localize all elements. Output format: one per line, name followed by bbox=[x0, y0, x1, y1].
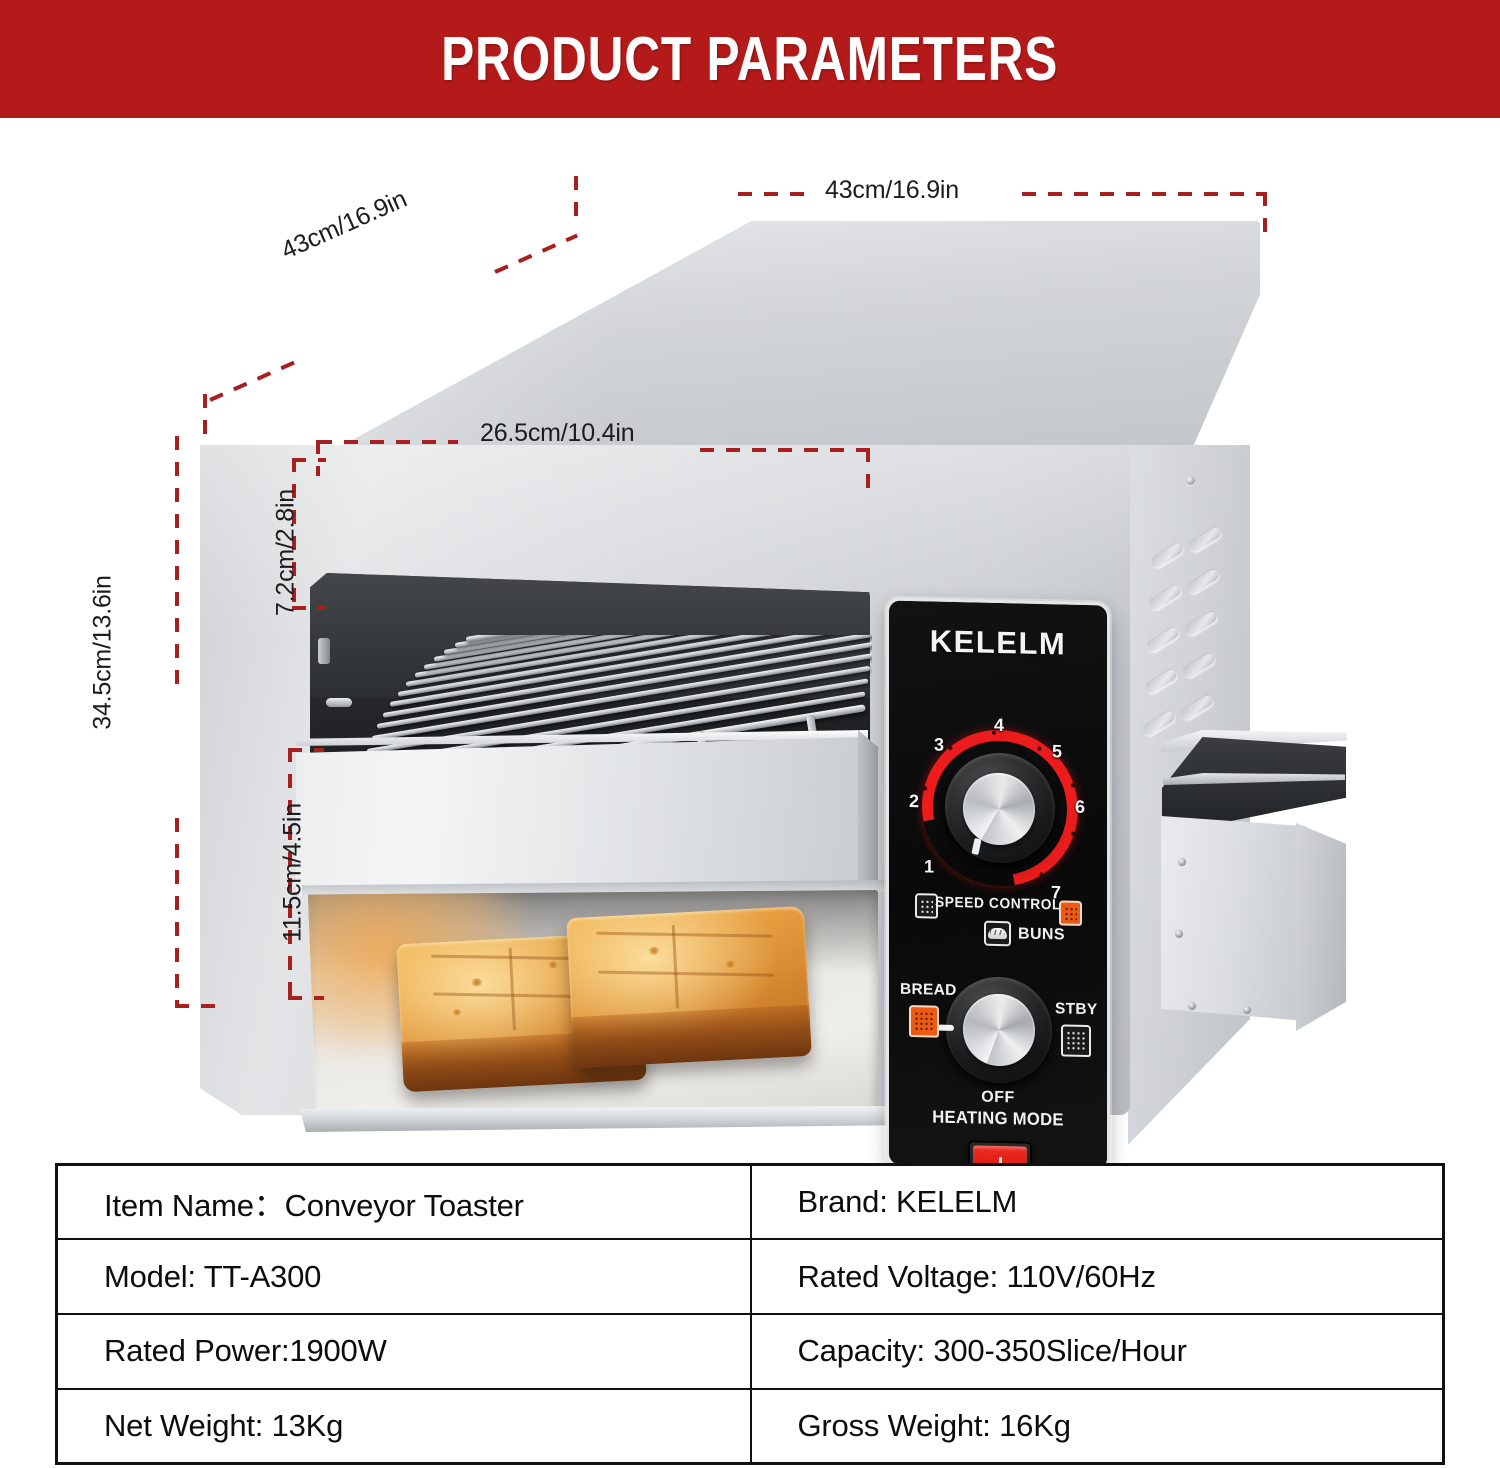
dim-line-width-left bbox=[738, 192, 813, 196]
dim-tick-opening-right bbox=[866, 448, 870, 496]
window-bottom-frame bbox=[300, 1106, 890, 1132]
dim-line-opening-left bbox=[318, 440, 458, 444]
heating-mode-label: HEATING MODE bbox=[894, 1106, 1101, 1132]
page-title: PRODUCT PARAMETERS bbox=[442, 24, 1059, 95]
speed-tick-5: 5 bbox=[1052, 741, 1062, 762]
dim-tick-width-right bbox=[1263, 192, 1267, 234]
spec-capacity: Capacity: 300-350Slice/Hour bbox=[751, 1314, 1444, 1389]
speed-tick-2: 2 bbox=[909, 791, 919, 812]
speed-tick-4: 4 bbox=[994, 715, 1004, 736]
output-window bbox=[308, 890, 878, 1122]
tray-screw-icon bbox=[1188, 1002, 1196, 1010]
dim-label-lower-opening: 11.5cm/4.5in bbox=[279, 758, 308, 988]
stainless-chute bbox=[296, 737, 866, 897]
speed-tick-1: 1 bbox=[924, 856, 934, 877]
tray-screw-icon bbox=[1178, 858, 1186, 866]
bread-label: BREAD bbox=[900, 981, 957, 1000]
product-parameters-page: PRODUCT PARAMETERS bbox=[0, 0, 1500, 1468]
spec-brand: Brand: KELELM bbox=[751, 1165, 1444, 1240]
spec-power: Rated Power:1900W bbox=[57, 1314, 751, 1389]
toaster-top-panel bbox=[200, 221, 1260, 451]
bread-slice-icon bbox=[909, 1005, 939, 1038]
specification-table: Item Name：Conveyor Toaster Brand: KELELM… bbox=[55, 1163, 1445, 1465]
spec-gross-weight: Gross Weight: 16Kg bbox=[751, 1389, 1444, 1464]
dim-label-opening-width: 26.5cm/10.4in bbox=[480, 419, 634, 448]
dim-label-upper-opening: 7.2cm/2.8in bbox=[272, 453, 301, 653]
stby-label: STBY bbox=[1055, 1000, 1098, 1019]
dim-line-width-right bbox=[1022, 192, 1267, 196]
side-screw-icon bbox=[1186, 476, 1195, 485]
table-row: Rated Power:1900W Capacity: 300-350Slice… bbox=[57, 1314, 1444, 1389]
toast-slice bbox=[566, 906, 812, 1068]
dim-tick-width-left bbox=[574, 176, 578, 222]
heating-mode-knob-cap[interactable] bbox=[963, 993, 1035, 1067]
tray-screw-icon bbox=[1175, 930, 1183, 938]
table-row: Item Name：Conveyor Toaster Brand: KELELM bbox=[57, 1165, 1444, 1240]
heating-mode-pointer bbox=[937, 1025, 954, 1031]
speed-control-knob-cap[interactable] bbox=[963, 772, 1035, 846]
dim-line-opening-right bbox=[700, 448, 870, 452]
dim-tick-depth-left bbox=[203, 394, 207, 436]
toast-dark-icon bbox=[1059, 900, 1082, 926]
dim-tick-lower-bottom bbox=[288, 996, 324, 1000]
crumb-tray-front bbox=[1161, 816, 1306, 1021]
tray-screw-icon bbox=[1243, 1006, 1251, 1014]
page-header-banner: PRODUCT PARAMETERS bbox=[0, 0, 1500, 118]
product-illustration: KELELM 1 2 3 4 5 6 bbox=[0, 118, 1500, 1158]
spec-net-weight: Net Weight: 13Kg bbox=[57, 1389, 751, 1464]
crumb-tray-side bbox=[1296, 823, 1346, 1031]
dim-line-height-upper bbox=[175, 436, 179, 696]
dim-label-width: 43cm/16.9in bbox=[825, 176, 959, 205]
table-row: Model: TT-A300 Rated Voltage: 110V/60Hz bbox=[57, 1239, 1444, 1314]
control-panel: KELELM 1 2 3 4 5 6 bbox=[886, 597, 1110, 1172]
dim-line-height-lower bbox=[175, 818, 179, 1008]
dim-label-total-height: 34.5cm/13.6in bbox=[89, 533, 118, 773]
standby-toast-icon bbox=[1061, 1024, 1091, 1057]
brand-logo: KELELM bbox=[889, 623, 1107, 664]
spec-model: Model: TT-A300 bbox=[57, 1239, 751, 1314]
dim-tick-height-bottom bbox=[175, 1004, 223, 1008]
speed-tick-6: 6 bbox=[1075, 797, 1085, 818]
buns-label: BUNS bbox=[1018, 925, 1065, 944]
conveyor-toaster-graphic: KELELM 1 2 3 4 5 6 bbox=[0, 118, 1500, 1158]
spec-voltage: Rated Voltage: 110V/60Hz bbox=[751, 1239, 1444, 1314]
chute-right-edge bbox=[858, 730, 878, 900]
speed-tick-3: 3 bbox=[934, 735, 944, 756]
dim-tick-lower-top bbox=[288, 748, 324, 752]
bun-icon bbox=[984, 921, 1011, 947]
spec-item-name: Item Name：Conveyor Toaster bbox=[57, 1165, 751, 1240]
table-row: Net Weight: 13Kg Gross Weight: 16Kg bbox=[57, 1389, 1444, 1464]
